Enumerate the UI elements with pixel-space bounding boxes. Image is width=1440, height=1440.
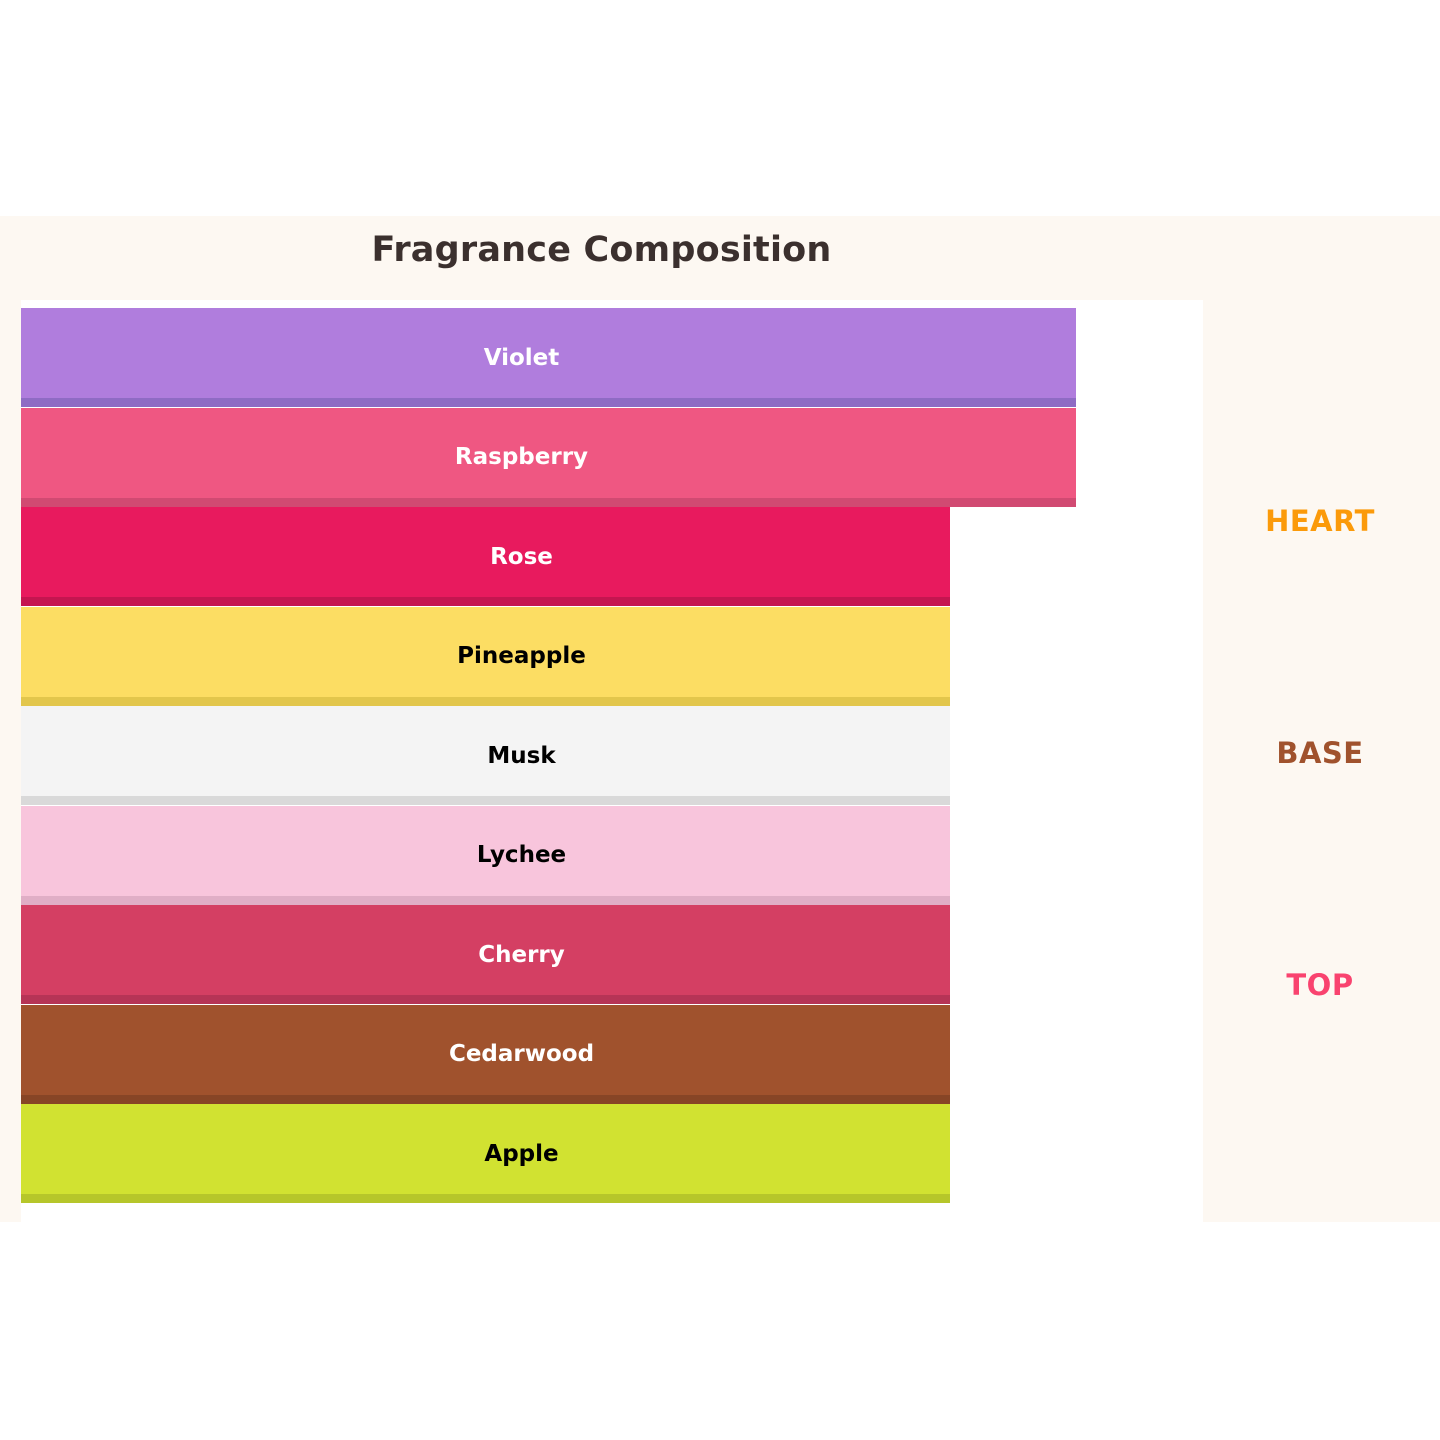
bar-shadow-edge xyxy=(21,697,950,706)
bar-fill xyxy=(21,1104,950,1203)
bar-fill xyxy=(21,905,950,1004)
stage-label-heart: HEART xyxy=(1200,504,1440,538)
bar-violet[interactable]: Violet xyxy=(21,308,1076,407)
bar-pineapple[interactable]: Pineapple xyxy=(21,607,950,706)
bar-raspberry[interactable]: Raspberry xyxy=(21,408,1076,507)
bar-fill xyxy=(21,408,1076,507)
stage-label-top: TOP xyxy=(1200,968,1440,1002)
bar-fill xyxy=(21,806,950,905)
bar-shadow-edge xyxy=(21,1095,950,1104)
bar-fill xyxy=(21,308,1076,407)
bar-shadow-edge xyxy=(21,398,1076,407)
bar-fill xyxy=(21,706,950,805)
bar-shadow-edge xyxy=(21,796,950,805)
bar-fill xyxy=(21,507,950,606)
bar-shadow-edge xyxy=(21,1194,950,1203)
bar-shadow-edge xyxy=(21,896,950,905)
page-title: Fragrance Composition xyxy=(0,230,1203,270)
bar-shadow-edge xyxy=(21,995,950,1004)
figure-background: Fragrance Composition VioletRaspberryRos… xyxy=(0,216,1440,1222)
bar-cedarwood[interactable]: Cedarwood xyxy=(21,1005,950,1104)
bar-shadow-edge xyxy=(21,498,1076,507)
bar-apple[interactable]: Apple xyxy=(21,1104,950,1203)
stage-label-base: BASE xyxy=(1200,736,1440,770)
bar-fill xyxy=(21,607,950,706)
bar-rose[interactable]: Rose xyxy=(21,507,950,606)
bar-musk[interactable]: Musk xyxy=(21,706,950,805)
bar-cherry[interactable]: Cherry xyxy=(21,905,950,1004)
bar-fill xyxy=(21,1005,950,1104)
bar-lychee[interactable]: Lychee xyxy=(21,806,950,905)
bar-shadow-edge xyxy=(21,597,950,606)
plot-area: VioletRaspberryRosePineappleMuskLycheeCh… xyxy=(21,300,1203,1222)
